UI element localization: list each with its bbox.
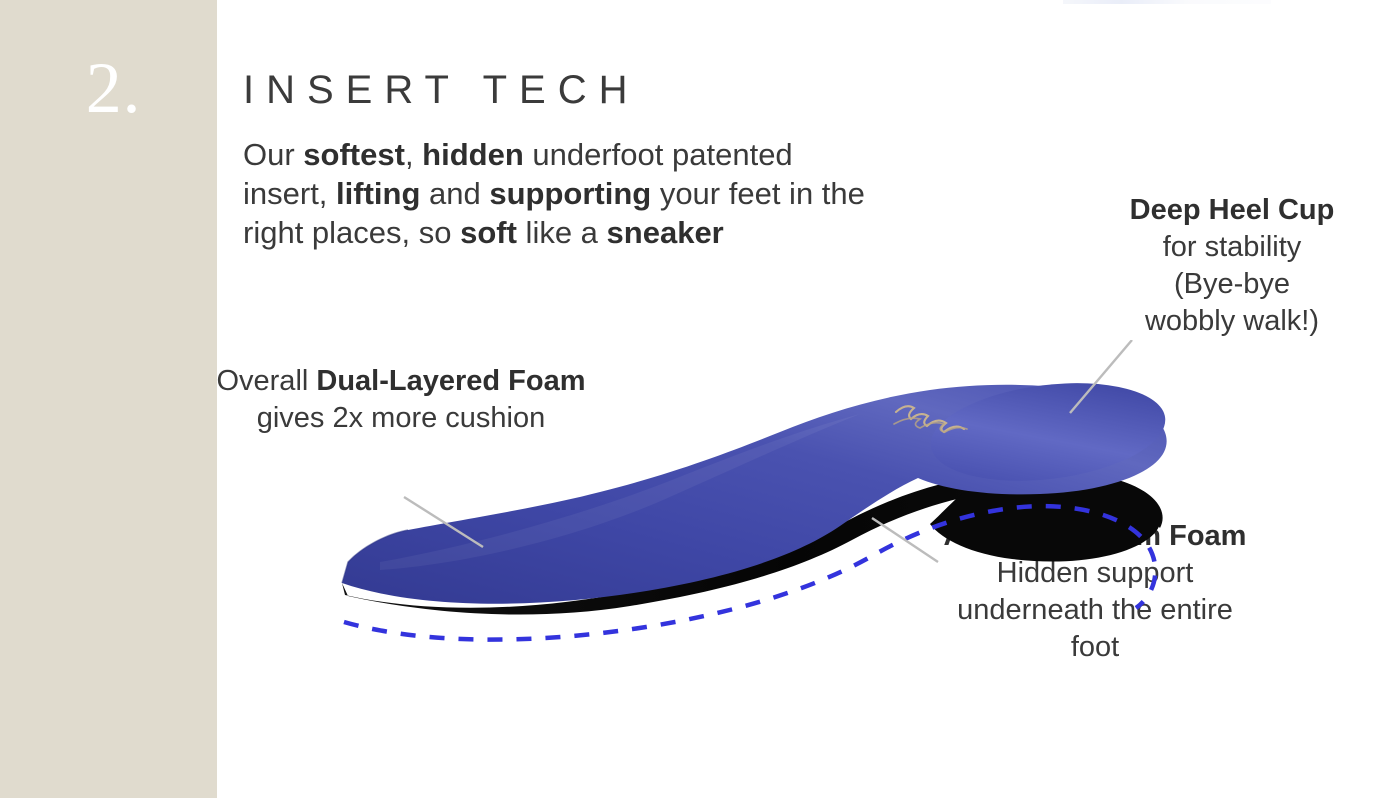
intro-emphasis: softest [303, 137, 405, 172]
insole-figure [300, 340, 1200, 670]
intro-emphasis: soft [460, 215, 517, 250]
intro-text: , [405, 137, 422, 172]
annotation-line: (Bye-bye [1082, 266, 1382, 303]
intro-text: and [420, 176, 489, 211]
annotation-line: wobbly walk!) [1082, 303, 1382, 340]
annotation-heading: Deep Heel Cup [1082, 192, 1382, 229]
top-edge-artifact [1063, 0, 1271, 4]
intro-emphasis: hidden [422, 137, 524, 172]
leader-line-2mm-foam [872, 518, 938, 562]
page-title: INSERT TECH [243, 68, 640, 113]
intro-paragraph: Our softest, hidden underfoot patented i… [243, 136, 883, 252]
intro-text: Our [243, 137, 303, 172]
intro-emphasis: sneaker [607, 215, 724, 250]
annotation-line: for stability [1082, 229, 1382, 266]
intro-emphasis: lifting [336, 176, 420, 211]
intro-text: like a [517, 215, 607, 250]
annotation-deep-heel-cup: Deep Heel Cup for stability(Bye-byewobbl… [1082, 192, 1382, 340]
step-number: 2. [0, 52, 217, 124]
slide-canvas: 2. INSERT TECH Our softest, hidden under… [0, 0, 1400, 798]
annotation-body: for stability(Bye-byewobbly walk!) [1082, 229, 1382, 340]
side-rail: 2. [0, 0, 217, 798]
intro-emphasis: supporting [489, 176, 651, 211]
